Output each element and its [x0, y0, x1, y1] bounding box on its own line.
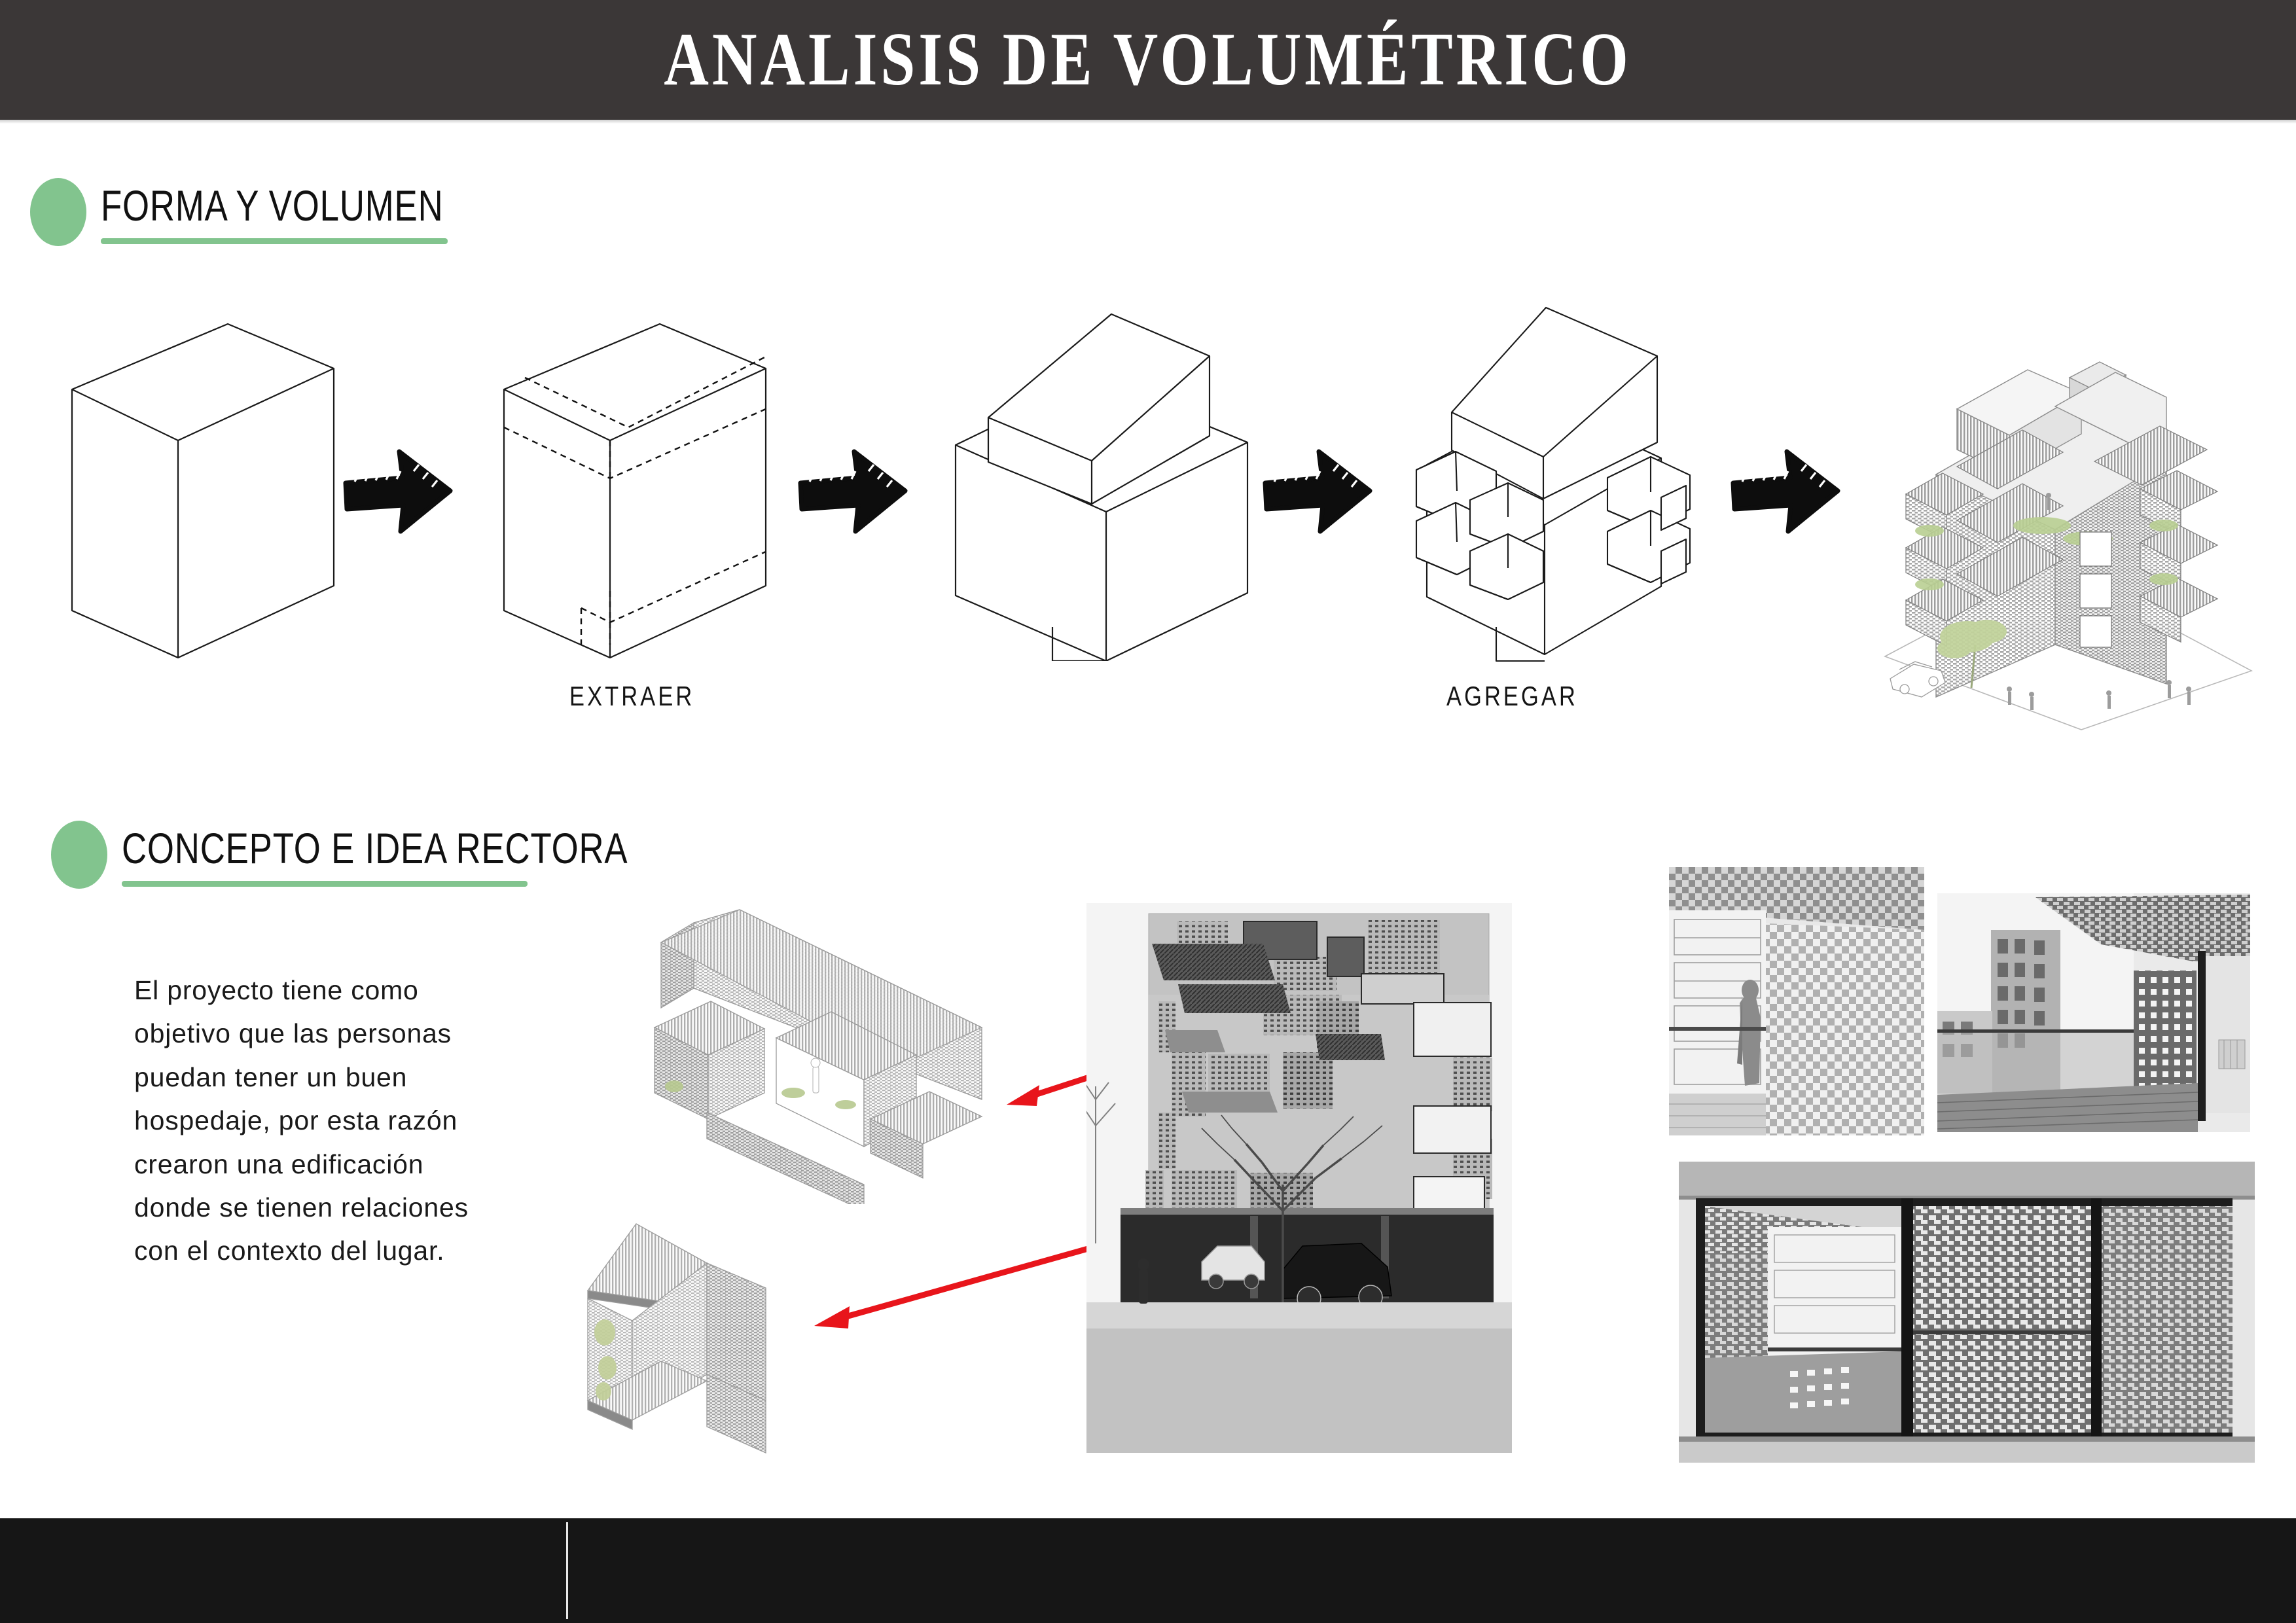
- process-arrow-4: [1728, 445, 1842, 540]
- volume-label-extraer: EXTRAER: [569, 681, 694, 712]
- presentation-board: ANALISIS DE VOLUMÉTRICO FORMA Y VOLUMEN: [0, 0, 2296, 1623]
- photo-interior-brick-screen: [1679, 1162, 2255, 1463]
- bullet-dot-icon: [51, 821, 107, 889]
- volume-step-2-marked: [497, 317, 772, 664]
- volume-step-3-stepped: [942, 308, 1257, 661]
- photo-facade-street: [1086, 903, 1512, 1453]
- volume-step-4-balconies: [1368, 301, 1708, 668]
- section-heading-concepto-idea-rectora: CONCEPTO E IDEA RECTORA: [51, 821, 755, 889]
- concept-paragraph: El proyecto tiene como objetivo que las …: [134, 969, 501, 1273]
- volume-label-agregar: AGREGAR: [1446, 681, 1578, 712]
- section-heading-forma-y-volumen: FORMA Y VOLUMEN: [30, 178, 529, 246]
- section-underline: [101, 238, 448, 244]
- bullet-dot-icon: [30, 178, 86, 246]
- footer-divider-1: [566, 1522, 568, 1619]
- volume-step-1-prism: [65, 317, 340, 664]
- section-title-forma: FORMA Y VOLUMEN: [101, 181, 444, 230]
- board-footer: UPN UNIVERSIDAD PRIVADA DEL NORTE TALLER…: [0, 1518, 2296, 1623]
- process-arrow-3: [1260, 445, 1374, 540]
- title-bar-shadow: [0, 120, 2296, 124]
- board-title-bar: ANALISIS DE VOLUMÉTRICO: [0, 0, 2296, 120]
- photo-balcony-city-view: [1937, 893, 2250, 1132]
- volume-sequence-row: EXTRAER AGREGAR: [0, 288, 2296, 707]
- photo-balcony-person: [1669, 867, 1924, 1135]
- process-arrow-2: [795, 445, 910, 540]
- volume-step-5-render: [1859, 278, 2265, 736]
- process-arrow-1: [340, 445, 455, 540]
- section-title-concepto: CONCEPTO E IDEA RECTORA: [122, 823, 628, 873]
- section-underline: [122, 881, 528, 887]
- axonometric-balcony-detail: [589, 903, 995, 1211]
- page-title: ANALISIS DE VOLUMÉTRICO: [664, 16, 1632, 103]
